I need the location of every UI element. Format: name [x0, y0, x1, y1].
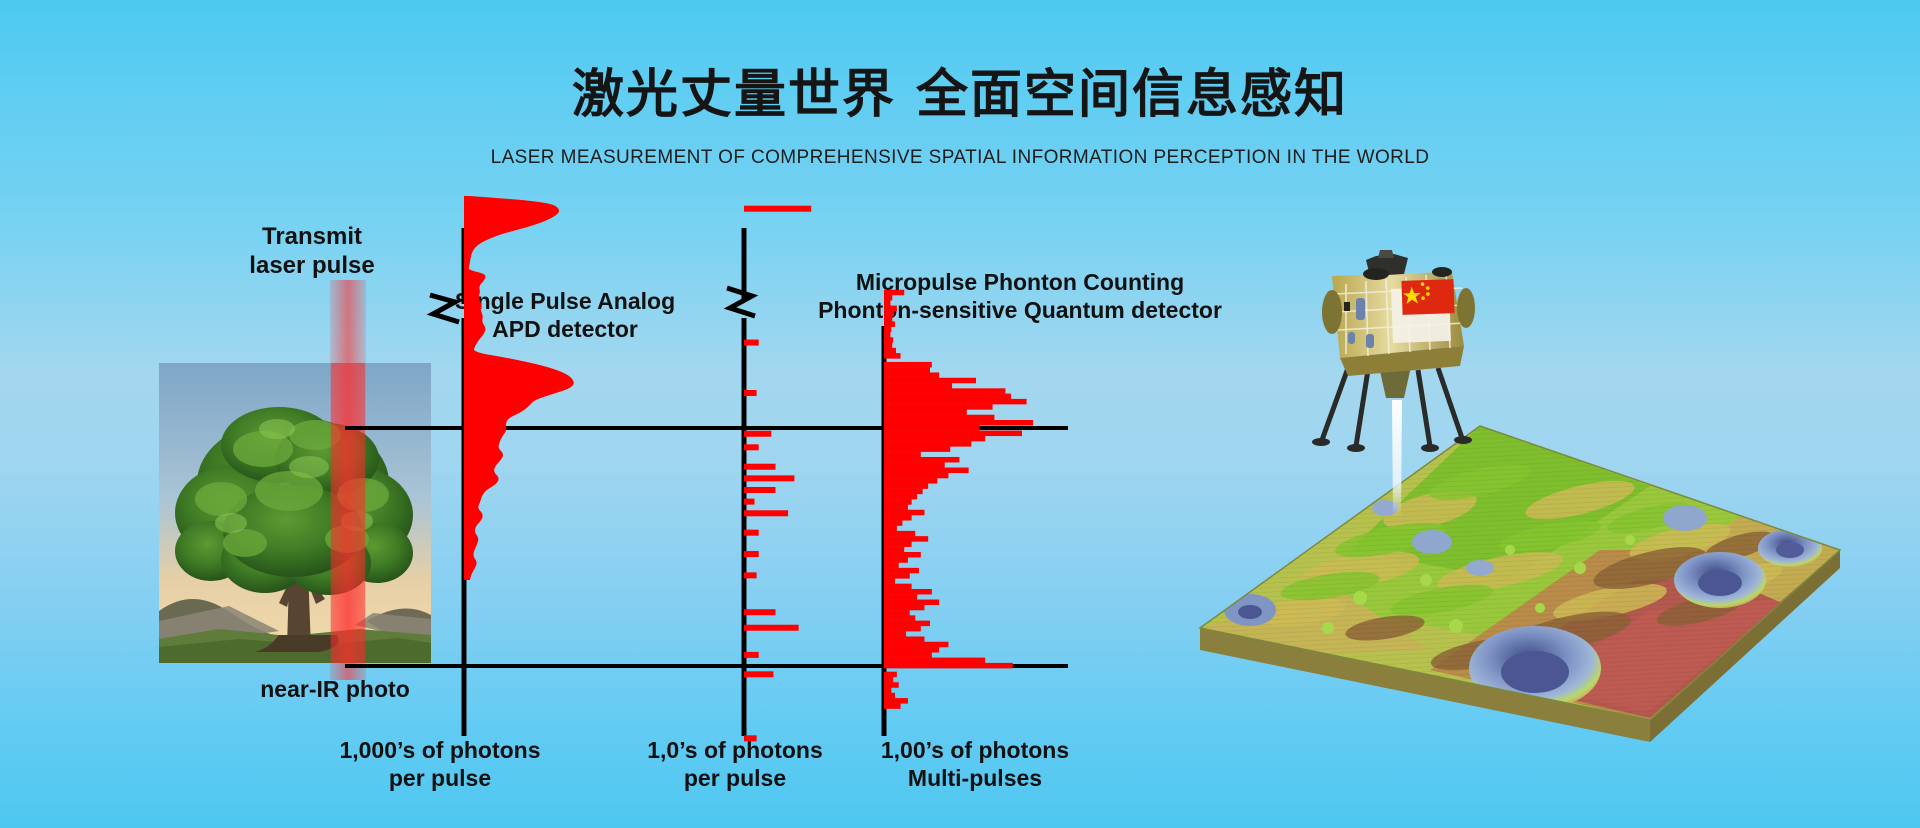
plot3-bar — [884, 698, 908, 704]
plot2-bar — [744, 652, 759, 658]
plot3-bar — [884, 703, 901, 709]
plot3-bar — [884, 663, 1013, 669]
plot3-bar — [884, 504, 908, 510]
plot2-bar — [744, 206, 811, 212]
plot3-bar — [884, 295, 892, 301]
plot2-bar — [744, 475, 794, 481]
plot3-bar — [884, 557, 908, 563]
plot3-bar — [884, 615, 915, 621]
plot3-bar — [884, 510, 924, 516]
plot3-bar — [884, 636, 924, 642]
plot2-bar — [744, 530, 759, 536]
plot3-bar — [884, 441, 971, 447]
plot3-bar — [884, 647, 939, 653]
plot3-bar — [884, 321, 895, 327]
plot2-bar — [744, 625, 799, 631]
plot3-bar — [884, 306, 897, 312]
plot2-bar — [744, 735, 757, 741]
3d-dem-terrain — [1190, 392, 1860, 743]
plot3-bar — [884, 520, 902, 526]
plot3-bar — [884, 672, 897, 678]
plot3-bar — [884, 420, 1033, 426]
plot3-bar — [884, 573, 910, 579]
plot2-bar — [744, 340, 759, 346]
plot2-bar — [744, 510, 788, 516]
plot3-bar — [884, 478, 937, 484]
plot3-bar — [884, 348, 896, 354]
plot2-bar — [744, 609, 776, 615]
plot2-bar — [744, 444, 759, 450]
plot3-bar — [884, 589, 932, 595]
plot3-bar — [884, 362, 932, 368]
plot3-bar — [884, 473, 948, 479]
plot3-bar — [884, 431, 1022, 437]
plot3-bar — [884, 621, 930, 627]
plot1-waveform — [464, 196, 574, 580]
plot3-bar — [884, 425, 980, 431]
plot3-bar — [884, 547, 904, 553]
plot3-bar — [884, 494, 917, 500]
plot3-bar — [884, 415, 994, 421]
plot2-bar — [744, 671, 773, 677]
plot3-bar — [884, 688, 891, 694]
plot3-bar — [884, 409, 967, 415]
plot2-bar — [744, 499, 755, 505]
plot3-waveform — [884, 290, 1033, 709]
plot3-bar — [884, 383, 952, 389]
lunar-lander-terrain-scene — [1180, 250, 1860, 770]
plot3-bar — [884, 489, 923, 495]
plot3-bar — [884, 631, 906, 637]
plot3-bar — [884, 552, 921, 558]
plot3-bar — [884, 436, 985, 442]
plot3-bar — [884, 600, 939, 606]
plot1-axis-break-right-icon — [727, 288, 755, 316]
plot3-bar — [884, 693, 895, 699]
plot3-bar — [884, 642, 948, 648]
plot3-bar — [884, 536, 928, 542]
plot3-bar — [884, 468, 969, 474]
plot3-bar — [884, 499, 912, 505]
plot1-area-path — [464, 196, 574, 580]
plot3-bar — [884, 652, 932, 658]
plot3-bar — [884, 353, 901, 359]
plot3-bar — [884, 327, 891, 333]
plot3-bar — [884, 682, 899, 688]
plot3-bar — [884, 568, 919, 574]
plot1-axis-break-left-icon — [430, 295, 459, 322]
plot3-bar — [884, 300, 890, 306]
plot3-bar — [884, 483, 928, 489]
plot3-bar — [884, 658, 985, 664]
plot3-bar — [884, 610, 910, 616]
plot3-bar — [884, 378, 976, 384]
plot3-bar — [884, 446, 950, 452]
plot3-bar — [884, 372, 939, 378]
plot3-bar — [884, 462, 945, 468]
plot3-bar — [884, 388, 1005, 394]
plot2-bar — [744, 572, 757, 578]
plot3-bar — [884, 605, 924, 611]
plot2-bar — [744, 464, 776, 470]
plot3-bar — [884, 515, 912, 521]
plot2-bar — [744, 390, 757, 396]
plot3-bar — [884, 626, 921, 632]
plot2-bar — [744, 431, 771, 437]
plot2-bar — [744, 551, 759, 557]
plot3-bar — [884, 677, 893, 683]
plot2-waveform — [744, 206, 811, 742]
plot3-bar — [884, 367, 930, 373]
plot3-bar — [884, 337, 893, 343]
plot3-bar — [884, 563, 899, 569]
plot3-bar — [884, 404, 993, 410]
plot3-bar — [884, 457, 959, 463]
plot3-bar — [884, 531, 915, 537]
plot3-bar — [884, 452, 921, 458]
plot2-bar — [744, 487, 776, 493]
plot3-bar — [884, 399, 1027, 405]
plot3-bar — [884, 541, 912, 547]
plot3-bar — [884, 394, 1011, 400]
poster-canvas: 激光丈量世界 全面空间信息感知 LASER MEASUREMENT OF COM… — [0, 0, 1920, 828]
engine-plume — [1392, 400, 1402, 518]
plot3-bar — [884, 311, 894, 317]
plot3-bar — [884, 316, 892, 322]
plot3-bar — [884, 584, 912, 590]
plot3-bar — [884, 332, 890, 338]
plot3-bar — [884, 526, 897, 532]
plot3-bar — [884, 594, 917, 600]
plot3-bar — [884, 290, 904, 296]
plot3-bar — [884, 343, 892, 349]
plot3-bar — [884, 578, 895, 584]
